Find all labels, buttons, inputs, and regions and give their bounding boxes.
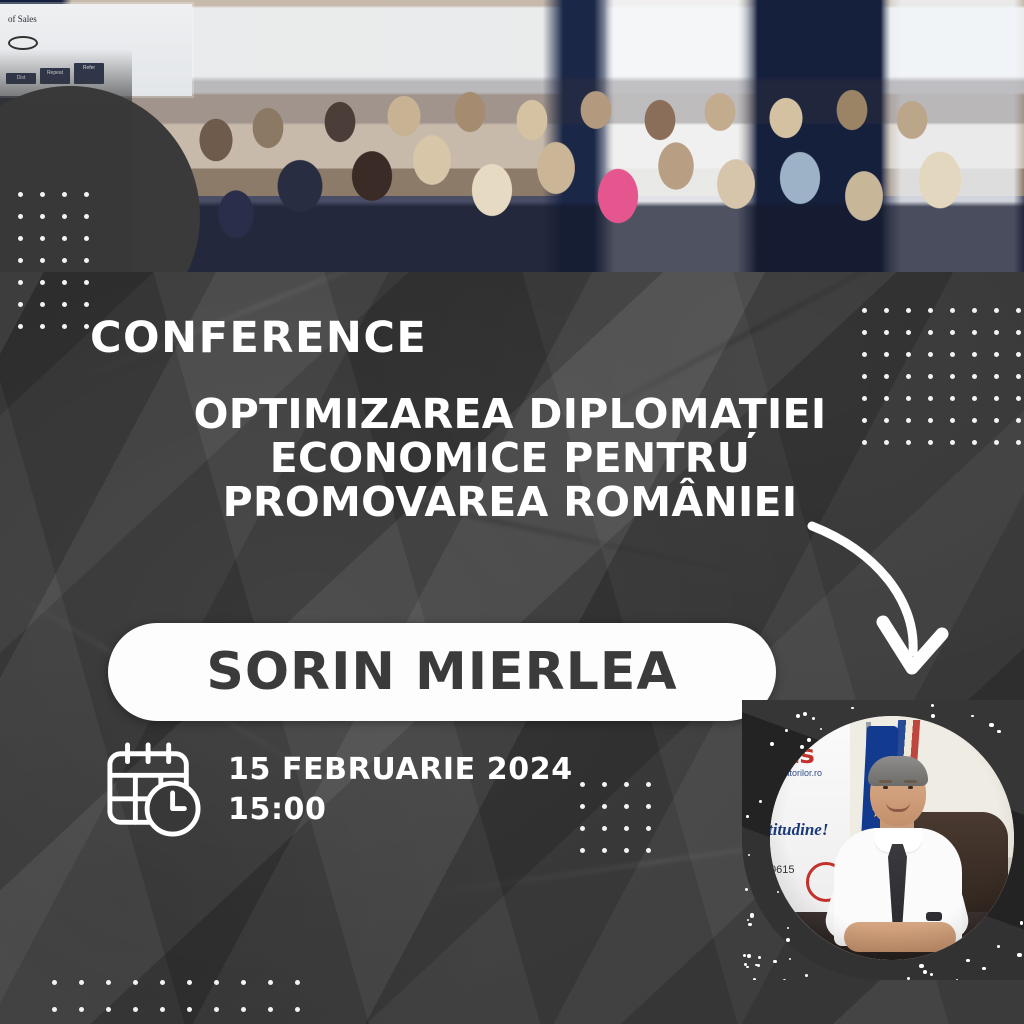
dot bbox=[106, 980, 111, 985]
star-dot bbox=[748, 923, 752, 927]
dot bbox=[950, 308, 955, 313]
dot bbox=[40, 236, 45, 241]
dot bbox=[580, 848, 585, 853]
star-dot bbox=[923, 970, 927, 974]
dot bbox=[906, 374, 911, 379]
dot bbox=[862, 440, 867, 445]
dot bbox=[187, 1007, 192, 1012]
dot bbox=[160, 980, 165, 985]
dot bbox=[862, 330, 867, 335]
poster-canvas: of Sales Dist Repeat Refer CONFERENCE OP… bbox=[0, 0, 1024, 1024]
dot bbox=[994, 330, 999, 335]
star-dot bbox=[758, 956, 761, 959]
dot bbox=[84, 192, 89, 197]
dot bbox=[950, 352, 955, 357]
speaker-portrait-photo: nis umatorilor.ro titudine! 0615 ★ bbox=[770, 716, 1014, 960]
dot bbox=[928, 440, 933, 445]
dot bbox=[906, 440, 911, 445]
dot bbox=[52, 980, 57, 985]
dot bbox=[79, 980, 84, 985]
dot bbox=[580, 782, 585, 787]
star-dot bbox=[748, 854, 751, 857]
dot bbox=[602, 782, 607, 787]
dot bbox=[994, 352, 999, 357]
dot bbox=[62, 192, 67, 197]
star-dot bbox=[773, 960, 777, 964]
dot bbox=[994, 374, 999, 379]
dot bbox=[994, 418, 999, 423]
dot bbox=[862, 374, 867, 379]
dot bbox=[994, 308, 999, 313]
dot bbox=[994, 440, 999, 445]
dot bbox=[1016, 374, 1021, 379]
dot bbox=[862, 308, 867, 313]
dot bbox=[950, 330, 955, 335]
title-line-3: PROMOVAREA ROMÂNIEI bbox=[160, 480, 860, 524]
star-dot bbox=[805, 974, 808, 977]
dot bbox=[884, 440, 889, 445]
dot bbox=[972, 352, 977, 357]
dot bbox=[862, 396, 867, 401]
dot bbox=[884, 396, 889, 401]
dot bbox=[133, 1007, 138, 1012]
dot bbox=[928, 330, 933, 335]
star-dot bbox=[783, 979, 786, 980]
star-dot bbox=[747, 919, 749, 921]
dot bbox=[1016, 308, 1021, 313]
hero-photo: of Sales Dist Repeat Refer bbox=[0, 0, 1024, 272]
dot bbox=[602, 848, 607, 853]
star-dot bbox=[745, 888, 748, 891]
title-line-2: ECONOMICE PENTRU bbox=[160, 436, 860, 480]
dot bbox=[62, 280, 67, 285]
dot bbox=[79, 1007, 84, 1012]
dot bbox=[18, 302, 23, 307]
dot bbox=[40, 280, 45, 285]
star-dot bbox=[907, 977, 911, 980]
dot bbox=[906, 330, 911, 335]
star-dot bbox=[755, 964, 758, 967]
dot bbox=[884, 352, 889, 357]
dot bbox=[1016, 396, 1021, 401]
dot bbox=[84, 302, 89, 307]
dot bbox=[1016, 418, 1021, 423]
dot bbox=[40, 214, 45, 219]
star-dot bbox=[759, 800, 762, 803]
speaker-name-pill[interactable]: SORIN MIERLEA bbox=[108, 623, 776, 721]
dot bbox=[950, 396, 955, 401]
dot bbox=[950, 440, 955, 445]
dot bbox=[187, 980, 192, 985]
dot bbox=[646, 782, 651, 787]
dot bbox=[646, 848, 651, 853]
star-dot bbox=[753, 978, 756, 980]
dot bbox=[972, 440, 977, 445]
dot bbox=[884, 308, 889, 313]
dot bbox=[18, 236, 23, 241]
dot bbox=[906, 352, 911, 357]
dot bbox=[862, 352, 867, 357]
dot bbox=[624, 848, 629, 853]
dot bbox=[646, 804, 651, 809]
dot bbox=[906, 308, 911, 313]
dot bbox=[62, 214, 67, 219]
dot bbox=[928, 308, 933, 313]
dot bbox=[1016, 440, 1021, 445]
dot bbox=[52, 1007, 57, 1012]
page-kicker: CONFERENCE bbox=[90, 313, 427, 363]
dot bbox=[18, 258, 23, 263]
dot bbox=[268, 980, 273, 985]
star-dot bbox=[747, 954, 751, 958]
dot bbox=[40, 192, 45, 197]
dot bbox=[602, 826, 607, 831]
dot bbox=[268, 1007, 273, 1012]
dot bbox=[84, 280, 89, 285]
dot bbox=[994, 396, 999, 401]
dot bbox=[214, 1007, 219, 1012]
dot bbox=[884, 330, 889, 335]
portrait-vignette bbox=[770, 716, 1014, 960]
dot bbox=[972, 396, 977, 401]
date-time-block: 15 FEBRUARIE 2024 15:00 bbox=[104, 742, 573, 838]
star-dot bbox=[851, 707, 854, 710]
dot bbox=[160, 1007, 165, 1012]
dot bbox=[928, 352, 933, 357]
dot bbox=[972, 330, 977, 335]
dot bbox=[928, 418, 933, 423]
dot bbox=[295, 980, 300, 985]
dot bbox=[580, 826, 585, 831]
dot bbox=[1016, 330, 1021, 335]
dot bbox=[950, 418, 955, 423]
star-dot bbox=[1017, 953, 1022, 958]
dot bbox=[295, 1007, 300, 1012]
dot bbox=[84, 324, 89, 329]
dot bbox=[972, 308, 977, 313]
star-dot bbox=[746, 815, 749, 818]
dot bbox=[862, 418, 867, 423]
title-line-1: OPTIMIZAREA DIPLOMAȚIEI bbox=[160, 392, 860, 436]
star-dot bbox=[931, 704, 934, 707]
calendar-clock-icon bbox=[104, 742, 202, 838]
speaker-name: SORIN MIERLEA bbox=[206, 642, 677, 702]
event-date: 15 FEBRUARIE 2024 bbox=[228, 750, 573, 790]
dot bbox=[62, 324, 67, 329]
dot bbox=[580, 804, 585, 809]
hero-photo-left-fade bbox=[0, 0, 132, 272]
speaker-portrait-block: nis umatorilor.ro titudine! 0615 ★ bbox=[742, 700, 1024, 980]
dot bbox=[133, 980, 138, 985]
dot bbox=[624, 804, 629, 809]
dot bbox=[241, 980, 246, 985]
dot bbox=[950, 374, 955, 379]
dot bbox=[40, 302, 45, 307]
star-dot bbox=[982, 967, 986, 971]
dot bbox=[1016, 352, 1021, 357]
dot bbox=[972, 418, 977, 423]
star-dot bbox=[956, 979, 958, 980]
dot bbox=[84, 214, 89, 219]
dot bbox=[62, 258, 67, 263]
dot bbox=[624, 782, 629, 787]
dot bbox=[884, 418, 889, 423]
star-dot bbox=[930, 973, 933, 976]
dot bbox=[241, 1007, 246, 1012]
dot bbox=[40, 258, 45, 263]
dot bbox=[646, 826, 651, 831]
dot bbox=[18, 324, 23, 329]
dot bbox=[884, 374, 889, 379]
dot bbox=[906, 418, 911, 423]
dot bbox=[928, 396, 933, 401]
dot bbox=[62, 236, 67, 241]
dot bbox=[18, 192, 23, 197]
curved-arrow-down-icon bbox=[800, 516, 960, 686]
dot bbox=[928, 374, 933, 379]
dot bbox=[84, 236, 89, 241]
star-dot bbox=[750, 913, 754, 917]
star-dot bbox=[743, 954, 746, 957]
dot bbox=[906, 396, 911, 401]
date-time-text: 15 FEBRUARIE 2024 15:00 bbox=[228, 750, 573, 830]
star-dot bbox=[1020, 921, 1024, 925]
dot bbox=[214, 980, 219, 985]
dot bbox=[106, 1007, 111, 1012]
dot bbox=[62, 302, 67, 307]
star-dot bbox=[919, 964, 923, 968]
dot bbox=[84, 258, 89, 263]
page-title: OPTIMIZAREA DIPLOMAȚIEI ECONOMICE PENTRU… bbox=[160, 392, 860, 524]
dot bbox=[602, 804, 607, 809]
dot bbox=[18, 280, 23, 285]
dot bbox=[624, 826, 629, 831]
dot bbox=[40, 324, 45, 329]
star-dot bbox=[746, 966, 749, 969]
dot bbox=[18, 214, 23, 219]
event-time: 15:00 bbox=[228, 790, 573, 830]
dot bbox=[972, 374, 977, 379]
